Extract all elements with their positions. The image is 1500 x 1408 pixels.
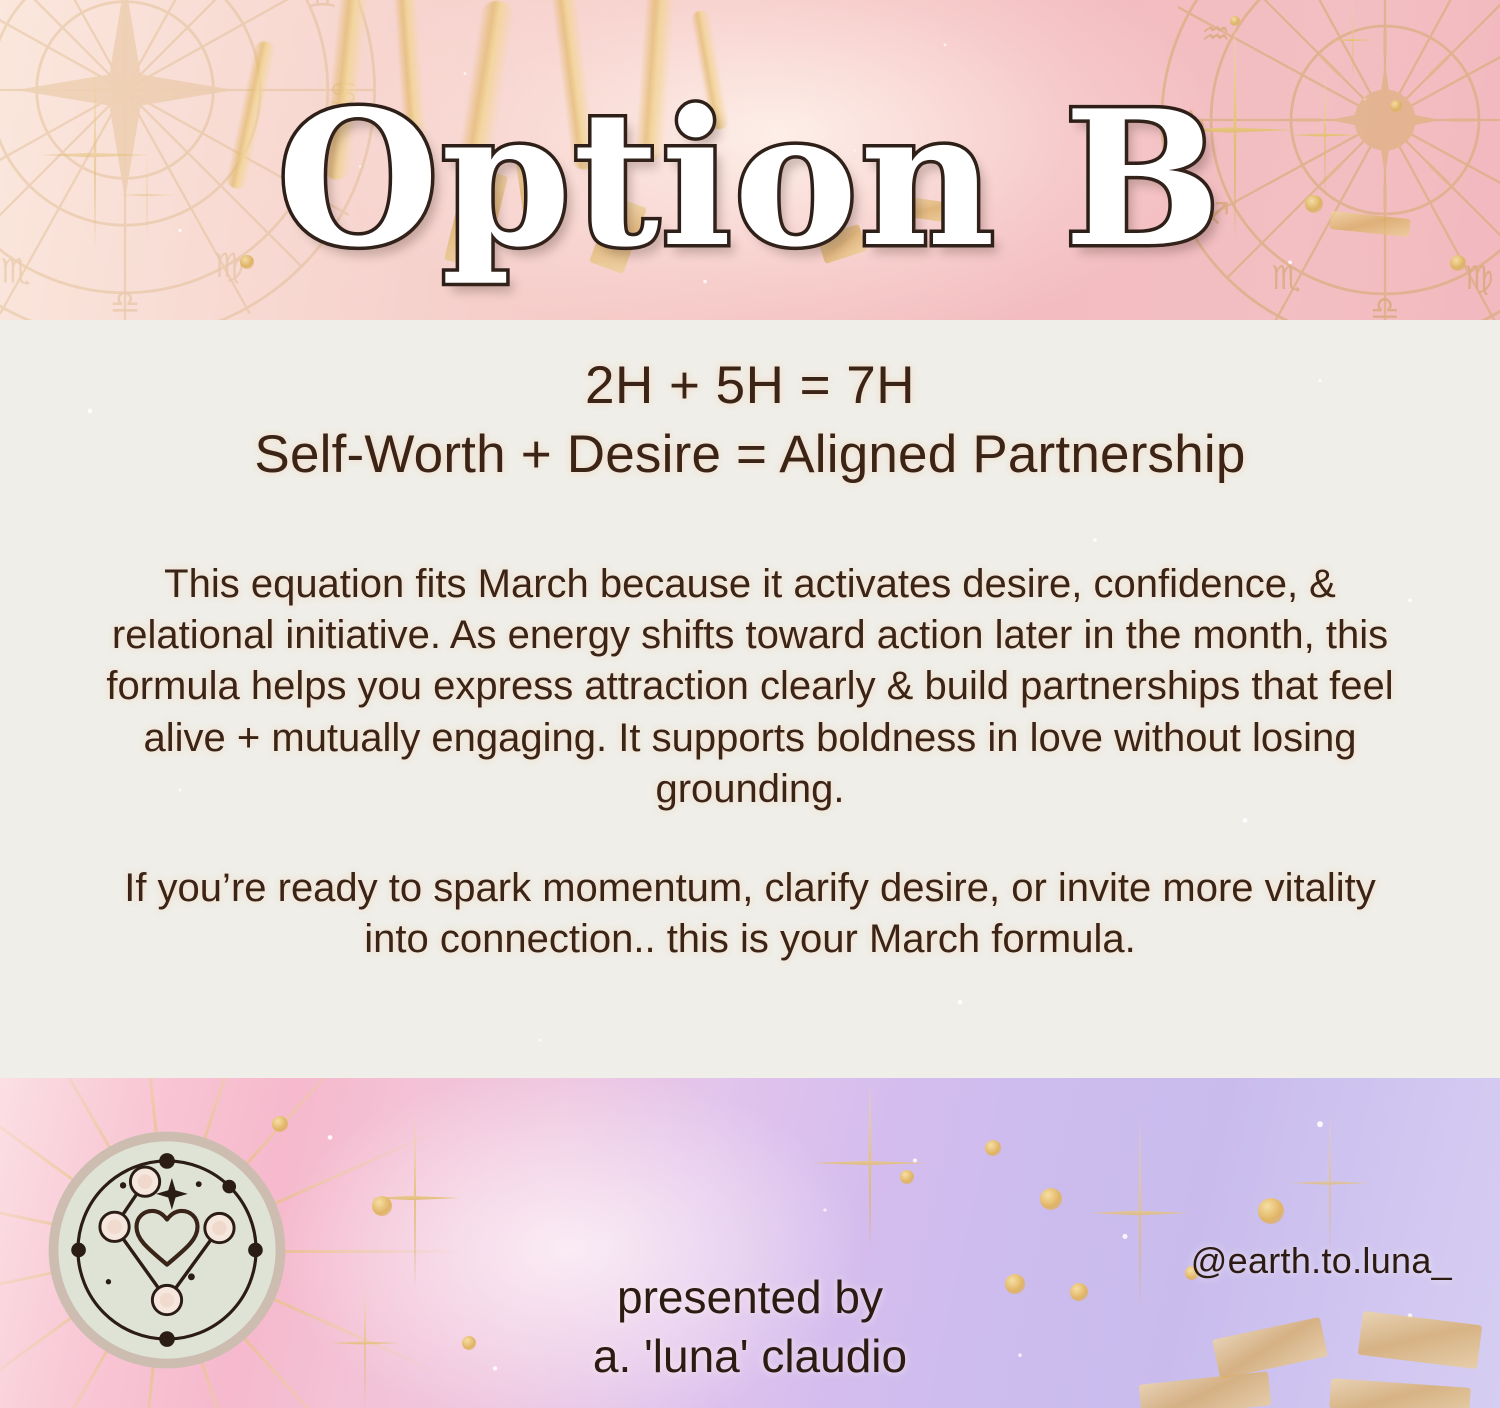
svg-text:♎: ♎ <box>110 283 140 320</box>
svg-text:♊: ♊ <box>307 0 337 15</box>
body-panel: 2H + 5H = 7H Self-Worth + Desire = Align… <box>0 320 1500 1078</box>
svg-text:♎: ♎ <box>1370 289 1399 320</box>
presented-by-label: presented by <box>420 1268 1080 1327</box>
header-band: ♈♉ ♊♋ ♌♍ ♎♏ ♐♑ ♒♓ <box>0 0 1500 320</box>
social-handle[interactable]: @earth.to.luna_ <box>1191 1240 1452 1282</box>
gold-dot <box>1040 1188 1062 1210</box>
equation-numeric: 2H + 5H = 7H <box>0 356 1500 415</box>
poster-canvas: ♈♉ ♊♋ ♌♍ ♎♏ ♐♑ ♒♓ <box>0 0 1500 1408</box>
sparkle-icon <box>810 1078 930 1248</box>
page-title: Option B <box>277 86 1223 272</box>
paragraph-one: This equation fits March because it acti… <box>85 559 1415 815</box>
paragraph-two: If you’re ready to spark momentum, clari… <box>100 863 1400 965</box>
title-container: Option B <box>0 86 1500 272</box>
equation-block: 2H + 5H = 7H Self-Worth + Desire = Align… <box>0 320 1500 487</box>
author-name: a. 'luna' claudio <box>420 1327 1080 1386</box>
sparkle-icon <box>1330 0 1376 80</box>
equation-words: Self-Worth + Desire = Aligned Partnershi… <box>0 423 1500 487</box>
sparkle-icon <box>1290 1108 1370 1258</box>
presented-by-block: presented by a. 'luna' claudio <box>420 1268 1080 1386</box>
sparkle-icon <box>1090 1118 1190 1308</box>
sparkle-icon <box>330 1278 400 1408</box>
gold-dot <box>985 1140 1001 1156</box>
gold-dot <box>372 1196 392 1216</box>
gold-dot <box>1258 1198 1284 1224</box>
constellation-heart-logo[interactable] <box>45 1128 289 1372</box>
gold-dot <box>900 1170 914 1184</box>
